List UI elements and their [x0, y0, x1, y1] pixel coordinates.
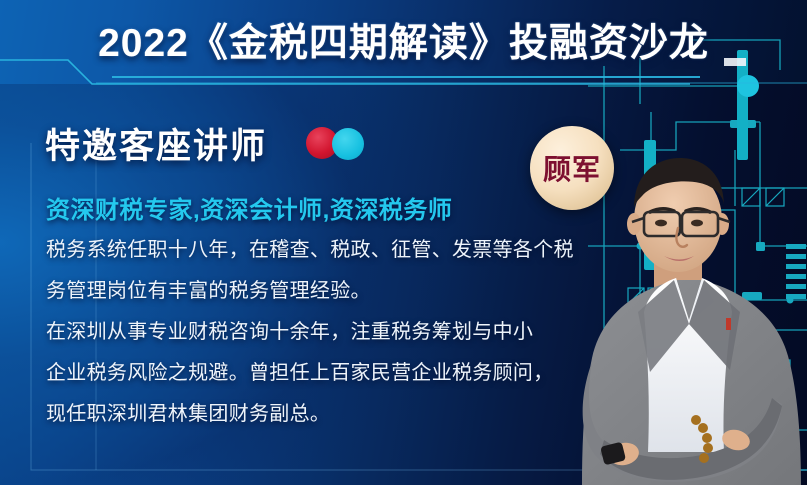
section-heading: 特邀客座讲师 — [45, 118, 267, 169]
speaker-bio: 税务系统任职十八年，在稽查、税政、征管、发票等各个税 务管理岗位有丰富的税务管理… — [46, 232, 586, 437]
speaker-credentials: 资深财税专家,资深会计师,资深税务师 — [46, 190, 452, 225]
speaker-portrait — [576, 152, 807, 485]
cyan-circle-icon — [332, 128, 364, 160]
bio-line: 务管理岗位有丰富的税务管理经验。 — [46, 273, 586, 310]
page-title: 2022《金税四期解读》投融资沙龙 — [0, 12, 807, 68]
bio-line: 税务系统任职十八年，在稽查、税政、征管、发票等各个税 — [46, 232, 586, 269]
promo-poster: 2022《金税四期解读》投融资沙龙 特邀客座讲师 资深财税专家,资深会计师,资深… — [0, 0, 807, 485]
bio-line: 企业税务风险之规避。曾担任上百家民营企业税务顾问， — [46, 355, 586, 392]
dot-pair-decoration — [306, 127, 370, 161]
bio-line: 现任职深圳君林集团财务副总。 — [46, 396, 586, 433]
bio-line: 在深圳从事专业财税咨询十余年，注重税务筹划与中小 — [46, 314, 586, 351]
